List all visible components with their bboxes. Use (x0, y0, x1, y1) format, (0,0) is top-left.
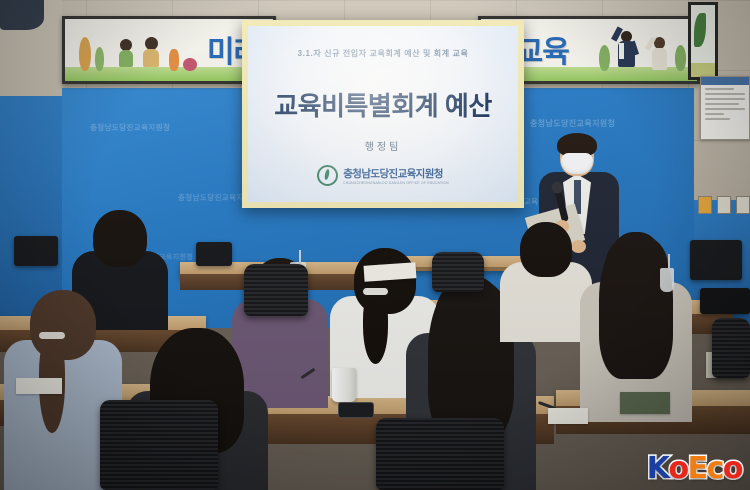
koeco-letter: E (688, 454, 707, 484)
office-chair (432, 252, 484, 292)
smartphone (338, 402, 374, 418)
slide-title: 교육비특별회계 예산 (248, 86, 518, 123)
tree-icon (95, 47, 104, 71)
koeco-letter: o (668, 454, 687, 484)
wall-sign-tiles (698, 196, 750, 214)
vegetable-icon (183, 58, 197, 71)
tree-icon (675, 45, 686, 71)
logo-mark-icon (317, 165, 338, 186)
av-equipment-icon (690, 240, 742, 280)
hair-tie (39, 332, 65, 339)
face-mask-icon (561, 153, 593, 174)
folder (620, 392, 670, 414)
monitor-icon (196, 242, 232, 266)
slide-team-name: 행정팀 (248, 138, 518, 153)
koeco-letter: o (723, 454, 742, 484)
paper-sheet (548, 408, 588, 424)
slide-subtitle: 3.1.자 신규 전입자 교육회계 예산 및 회계 교육 (248, 48, 518, 59)
wall-watermark-text: 충청남도당진교육지원청 (90, 122, 170, 133)
office-logo: 충청남도당진교육지원청 CHUNGCHEONGNAM-DO DANGJIN OF… (248, 165, 518, 186)
iced-drink-cup (660, 268, 674, 292)
paper-sheet (16, 378, 62, 394)
photo-scene: 충청남도당진교육지원청충청남도당진교육지원청충청남도당진교육지원청충청남도당진교… (0, 0, 750, 490)
logo-text: 충청남도당진교육지원청 (343, 166, 449, 181)
koeco-letter: K (647, 454, 669, 484)
koeco-letter: c (707, 454, 723, 484)
child-illustration (141, 37, 161, 69)
audience-hair-bun (531, 258, 553, 276)
av-equipment-icon (700, 288, 750, 314)
presentation-slide: 3.1.자 신규 전입자 교육회계 예산 및 회계 교육 교육비특별회계 예산 … (248, 26, 518, 202)
audience-ponytail (363, 289, 388, 364)
paper-cup (332, 368, 356, 402)
adult-woman-illustration (647, 29, 671, 69)
audience-hair (599, 232, 673, 379)
tree-icon (79, 37, 91, 71)
adult-man-illustration (613, 25, 639, 69)
tree-icon (599, 45, 610, 71)
monitor-icon (14, 236, 58, 266)
wall-notice-poster (700, 76, 750, 140)
koeco-watermark: KoEco (647, 454, 742, 484)
wall-watermark-text: 충청남도당진교육지원청 (530, 118, 615, 129)
framed-picture (688, 2, 718, 80)
office-chair (376, 418, 504, 490)
audience-head (93, 210, 147, 267)
hair-tie (363, 288, 388, 295)
office-chair (712, 318, 750, 378)
office-chair (100, 400, 218, 490)
child-illustration (117, 39, 135, 69)
ceiling-speaker-icon (0, 0, 44, 30)
audience-right-white (500, 222, 592, 342)
office-chair (244, 264, 308, 316)
projector-screen: 3.1.자 신규 전입자 교육회계 예산 및 회계 교육 교육비특별회계 예산 … (242, 20, 524, 208)
carrot-icon (169, 49, 179, 71)
logo-subtext: CHUNGCHEONGNAM-DO DANGJIN OFFICE OF EDUC… (343, 181, 449, 185)
notice-header-bar (701, 77, 749, 85)
